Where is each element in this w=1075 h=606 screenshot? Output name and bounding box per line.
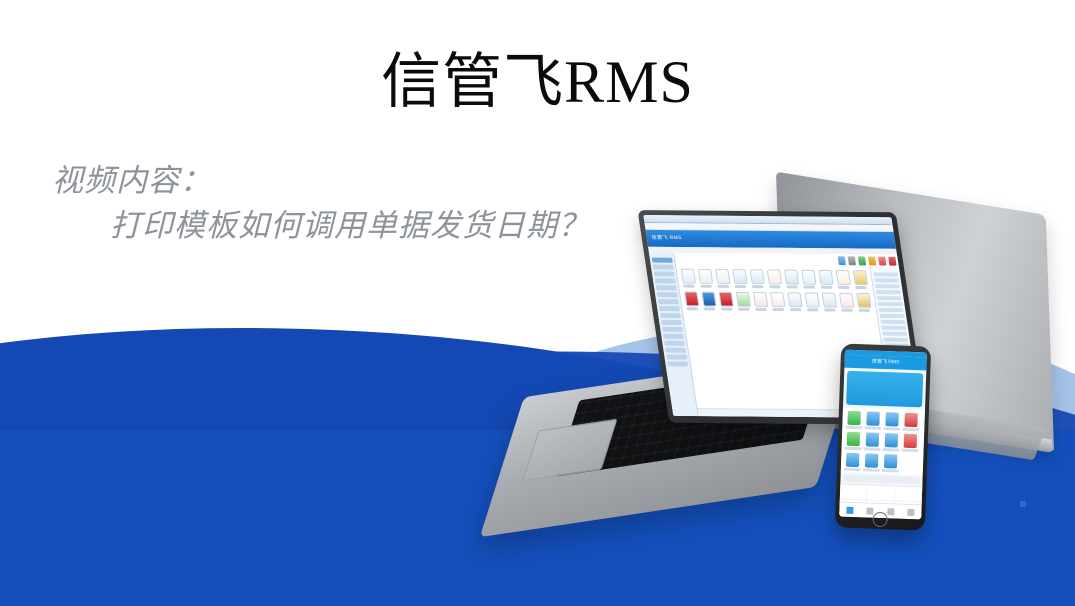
video-content-label: 视频内容： [52,162,212,200]
bottom-banner: 信管飞软件演示视频 一站式解决方案，应用逐步深入、投入小见效快！ [0,506,1075,606]
mobile-hero-card [846,371,923,408]
app-toolbar [838,256,897,265]
device-composite: 信管飞 RMS [470,180,1075,540]
presentation-slide: 信管飞RMS 视频内容： 打印模板如何调用单据发货日期？ 信管飞 RMS [0,0,1075,606]
slide-title: 信管飞RMS [0,46,1075,118]
phone-screen: 信管飞 RMS [839,350,927,520]
mobile-icon-grid [841,408,925,476]
app-icon-grid [681,269,876,312]
mobile-section-header [843,475,919,485]
smartphone: 信管飞 RMS [835,343,931,530]
mobile-app-header: 信管飞 RMS [844,355,926,371]
